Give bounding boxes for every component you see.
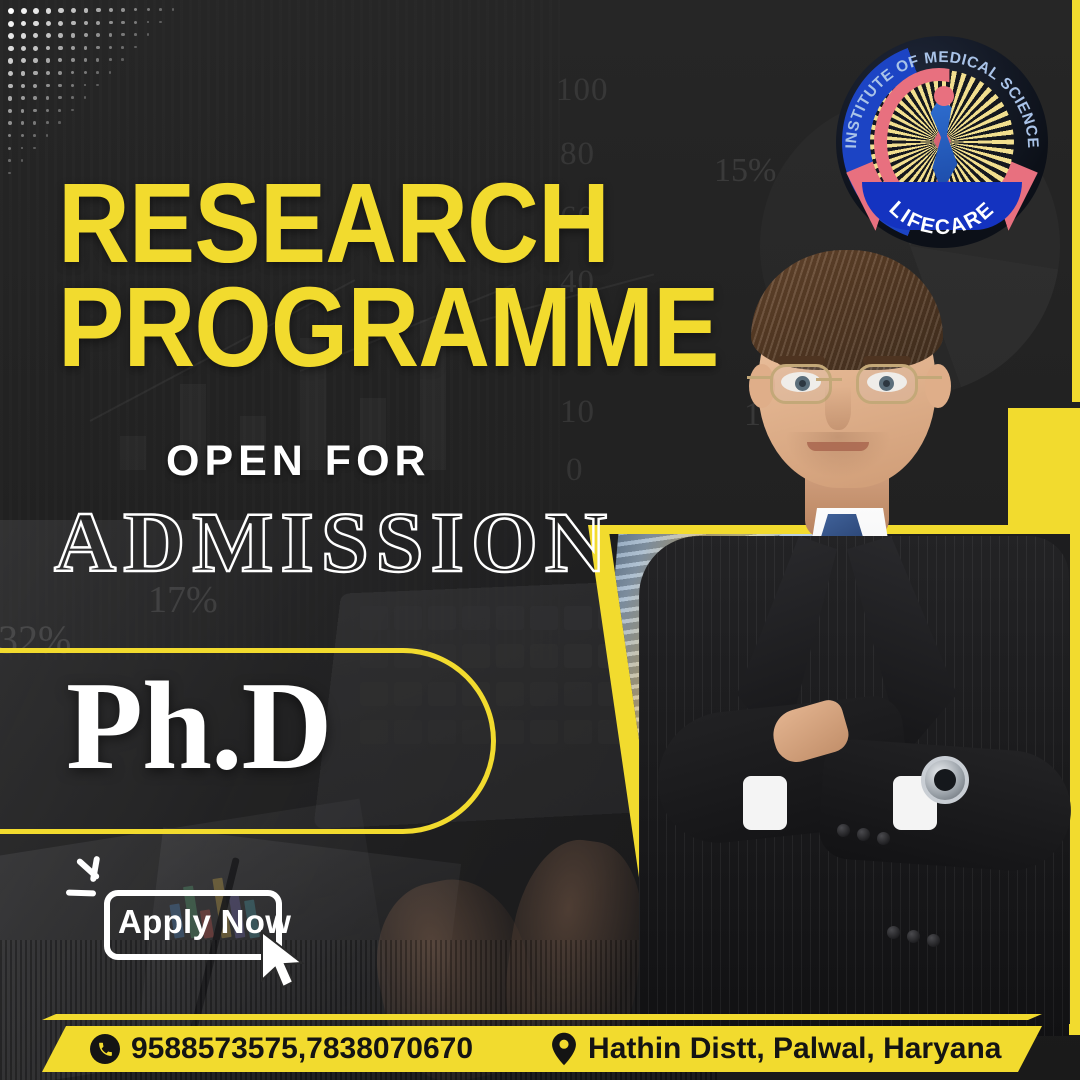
decorative-dot [71,71,74,74]
eyeglasses-bridge [816,378,842,381]
decorative-dot [96,33,100,37]
background-keyboard-key [496,606,524,630]
subtitle-admission: ADMISSION [54,492,614,592]
headline-line-2: PROGRAMME [58,276,719,380]
background-keyboard-key [530,606,558,630]
decorative-dot [33,96,37,100]
decorative-dot [33,21,39,27]
decorative-dot [84,21,88,25]
sleeve-button-4 [887,926,900,939]
decorative-dot [46,84,50,88]
logo-band-text: LIFECARE [836,36,1048,248]
decorative-dot [46,33,51,38]
decorative-dot [21,21,27,27]
footer-contact-bar: 9588573575,7838070670 Hathin Distt, Palw… [42,1026,1042,1072]
decorative-dot [96,21,100,25]
decorative-dot [33,134,36,137]
decorative-dot [58,96,61,99]
decorative-dot [21,8,27,14]
decorative-dot [58,109,61,112]
decorative-dot [71,33,75,37]
location-pin-icon [551,1032,577,1066]
footer-phone-number[interactable]: 9588573575,7838070670 [131,1032,473,1066]
decorative-dot [109,58,112,61]
institute-logo: INSTITUTE OF MEDICAL SCIENCE LIFECARE [836,36,1048,248]
background-keyboard-key [530,644,558,668]
decorative-dot [84,84,87,87]
eyeglasses-temple-left [747,376,773,379]
decorative-dot [109,33,112,36]
decorative-dot [33,71,37,75]
sleeve-button-1 [837,824,850,837]
decorative-dot [71,21,76,26]
decorative-dot [8,71,13,76]
decorative-dot [109,8,113,12]
decorative-dot [58,8,63,13]
decorative-dot [147,21,150,24]
decorative-dot [8,96,12,100]
decorative-dot [121,33,124,36]
footer-accent-strip [42,1014,1042,1020]
page-title: RESEARCH PROGRAMME [58,172,719,380]
sleeve-button-2 [857,828,870,841]
decorative-dot [96,71,99,74]
background-keyboard-key [462,644,490,668]
decorative-dot [71,46,75,50]
decorative-dot [21,134,24,137]
decorative-dot [134,46,137,49]
decorative-dot [33,109,36,112]
background-keyboard-key [564,720,592,744]
decorative-dot [8,58,13,63]
decorative-dot [84,96,87,99]
decorative-dot [8,21,14,27]
decorative-dot [121,46,124,49]
decorative-dot [8,147,11,150]
shirt-cuff-left [743,776,787,830]
person-chin-shading [785,432,891,478]
decorative-dot [46,58,50,62]
decorative-dot [33,147,36,150]
background-keyboard-key [360,606,388,630]
decorative-dot [46,96,49,99]
decorative-dot [33,84,37,88]
decorative-dot [84,46,88,50]
decorative-dot [33,46,38,51]
decorative-dot [8,109,12,113]
decorative-dot [84,71,87,74]
decorative-dot [21,96,25,100]
decorative-dot [8,172,11,175]
decorative-dot [172,8,175,11]
footer-phone-group[interactable]: 9588573575,7838070670 [90,1032,473,1066]
decorative-dot [58,121,61,124]
decorative-dot [46,46,51,51]
decorative-dot [8,8,14,14]
decorative-dot [84,8,89,13]
decorative-dot [134,8,137,11]
decorative-dot [109,46,112,49]
sleeve-button-5 [907,930,920,943]
decorative-dot [84,58,87,61]
svg-text:LIFECARE: LIFECARE [885,197,1000,239]
decorative-dot [134,21,137,24]
decorative-dot [71,8,76,13]
decorative-dot [46,71,50,75]
decorative-dot [21,58,26,63]
decorative-dot [46,134,49,137]
decorative-dot [33,121,36,124]
decorative-dot [21,84,25,88]
decorative-dot [109,71,112,74]
decorative-dot [33,8,39,14]
chart-tick-0: 0 [566,452,584,489]
decorative-dot [21,33,27,39]
sleeve-button-6 [927,934,940,947]
decorative-dot [21,121,24,124]
background-keyboard-key [496,682,524,706]
footer-location-group[interactable]: Hathin Distt, Palwal, Haryana [551,1032,1001,1066]
decorative-dot [21,147,24,150]
decorative-dot [109,21,113,25]
decorative-dot [21,159,24,162]
decorative-dot [71,84,74,87]
background-keyboard-key [462,606,490,630]
decorative-dot [71,58,75,62]
dot-grid-decoration [8,8,188,178]
decorative-dot [8,159,11,162]
decorative-dot [96,84,99,87]
decorative-dot [58,58,62,62]
eyeglasses-temple-right [916,376,942,379]
decorative-dot [33,58,38,63]
wristwatch [921,756,969,804]
background-keyboard-key [564,606,592,630]
decorative-dot [8,121,12,125]
background-keyboard-key [496,720,524,744]
background-keyboard-key [530,682,558,706]
subtitle-open-for: OPEN FOR [166,437,431,486]
person-hair [751,250,943,370]
decorative-dot [96,58,99,61]
background-keyboard-key [564,644,592,668]
decorative-dot [46,21,51,26]
decorative-dot [46,8,52,14]
decorative-dot [46,121,49,124]
background-keyboard-key [496,644,524,668]
phone-icon [90,1034,120,1064]
chart-label-15pct: 15% [714,152,776,190]
eyeglasses-lens-right [856,364,918,404]
decorative-dot [8,33,14,39]
decorative-dot [121,8,125,12]
decorative-dot [58,84,61,87]
person-ear-right [925,364,951,408]
degree-label: Ph.D [66,664,332,790]
eyeglasses-lens-left [770,364,832,404]
decorative-dot [21,46,26,51]
sleeve-button-3 [877,832,890,845]
decorative-dot [147,8,150,11]
decorative-dot [8,84,13,89]
decorative-dot [96,46,99,49]
decorative-dot [159,8,162,11]
poster-canvas: 100 80 60 40 10 0 15% 18% 17% 32% [0,0,1080,1080]
decorative-dot [8,46,14,52]
decorative-dot [71,96,74,99]
decorative-dot [58,71,62,75]
decorative-dot [58,33,63,38]
background-keyboard-key [530,720,558,744]
decorative-dot [96,8,100,12]
decorative-dot [21,109,25,113]
person-mouth [807,442,869,451]
decorative-dot [58,21,63,26]
decorative-dot [134,33,137,36]
background-keyboard-key [564,682,592,706]
decorative-dot [84,33,88,37]
decorative-dot [33,33,38,38]
chart-tick-100: 100 [556,72,609,109]
decorative-dot [121,21,124,24]
decorative-dot [71,109,74,112]
background-bar-1 [120,436,146,470]
person-nose [825,386,851,430]
decorative-dot [58,46,62,50]
background-keyboard-key [394,606,422,630]
background-keyboard-key [428,606,456,630]
decorative-dot [8,134,11,137]
decorative-dot [159,21,162,24]
decorative-dot [21,71,26,76]
cursor-arrow-icon [258,930,310,992]
click-spark-3 [66,889,96,896]
footer-location-text[interactable]: Hathin Distt, Palwal, Haryana [588,1032,1001,1066]
decorative-dot [46,109,49,112]
decorative-dot [121,58,124,61]
decorative-dot [147,33,150,36]
chart-tick-10: 10 [560,394,595,431]
